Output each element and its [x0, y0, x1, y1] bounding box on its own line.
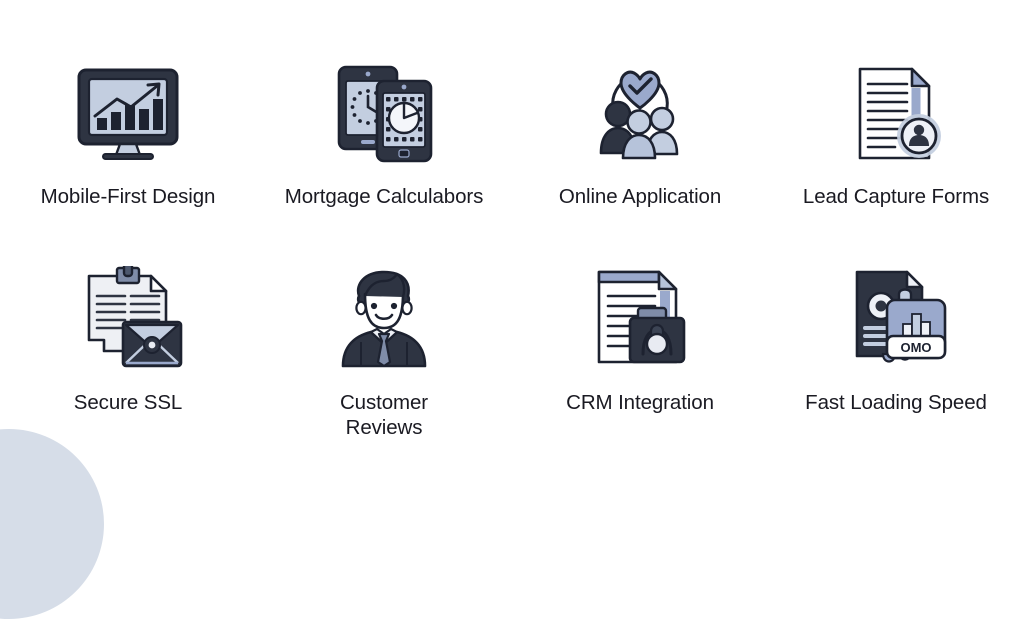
feature-label: Online Application — [559, 184, 721, 209]
feature-label: Mobile-First Design — [41, 184, 216, 209]
feature-label: Customer Reviews — [340, 390, 428, 440]
clipboard-envelope-icon — [63, 264, 193, 372]
id-card-text: OMO — [900, 340, 931, 355]
id-card-chart-icon: OMO — [831, 264, 961, 372]
people-heart-check-icon — [575, 62, 705, 166]
feature-card-crm-integration[interactable]: CRM Integration — [512, 264, 768, 440]
feature-card-mobile-first-design[interactable]: Mobile-First Design — [0, 62, 256, 238]
feature-label: Fast Loading Speed — [805, 390, 987, 415]
feature-label: Secure SSL — [74, 390, 182, 415]
feature-card-secure-ssl[interactable]: Secure SSL — [0, 264, 256, 440]
feature-label: CRM Integration — [566, 390, 714, 415]
businessman-avatar-icon — [319, 264, 449, 372]
two-tablets-clock-icon — [319, 62, 449, 166]
feature-card-fast-loading-speed[interactable]: OMO Fast Loading Speed — [768, 264, 1024, 440]
feature-card-mortgage-calculabors[interactable]: Mortgage Calculabors — [256, 62, 512, 238]
feature-label: Lead Capture Forms — [803, 184, 989, 209]
feature-label: Mortgage Calculabors — [285, 184, 484, 209]
monitor-bar-chart-icon — [63, 62, 193, 166]
document-lock-icon — [575, 264, 705, 372]
feature-card-online-application[interactable]: Online Application — [512, 62, 768, 238]
feature-grid: Mobile-First Design — [0, 0, 1024, 440]
document-person-badge-icon — [831, 62, 961, 166]
feature-card-customer-reviews[interactable]: Customer Reviews — [256, 264, 512, 440]
decorative-corner-blob — [0, 429, 104, 619]
feature-card-lead-capture-forms[interactable]: Lead Capture Forms — [768, 62, 1024, 238]
